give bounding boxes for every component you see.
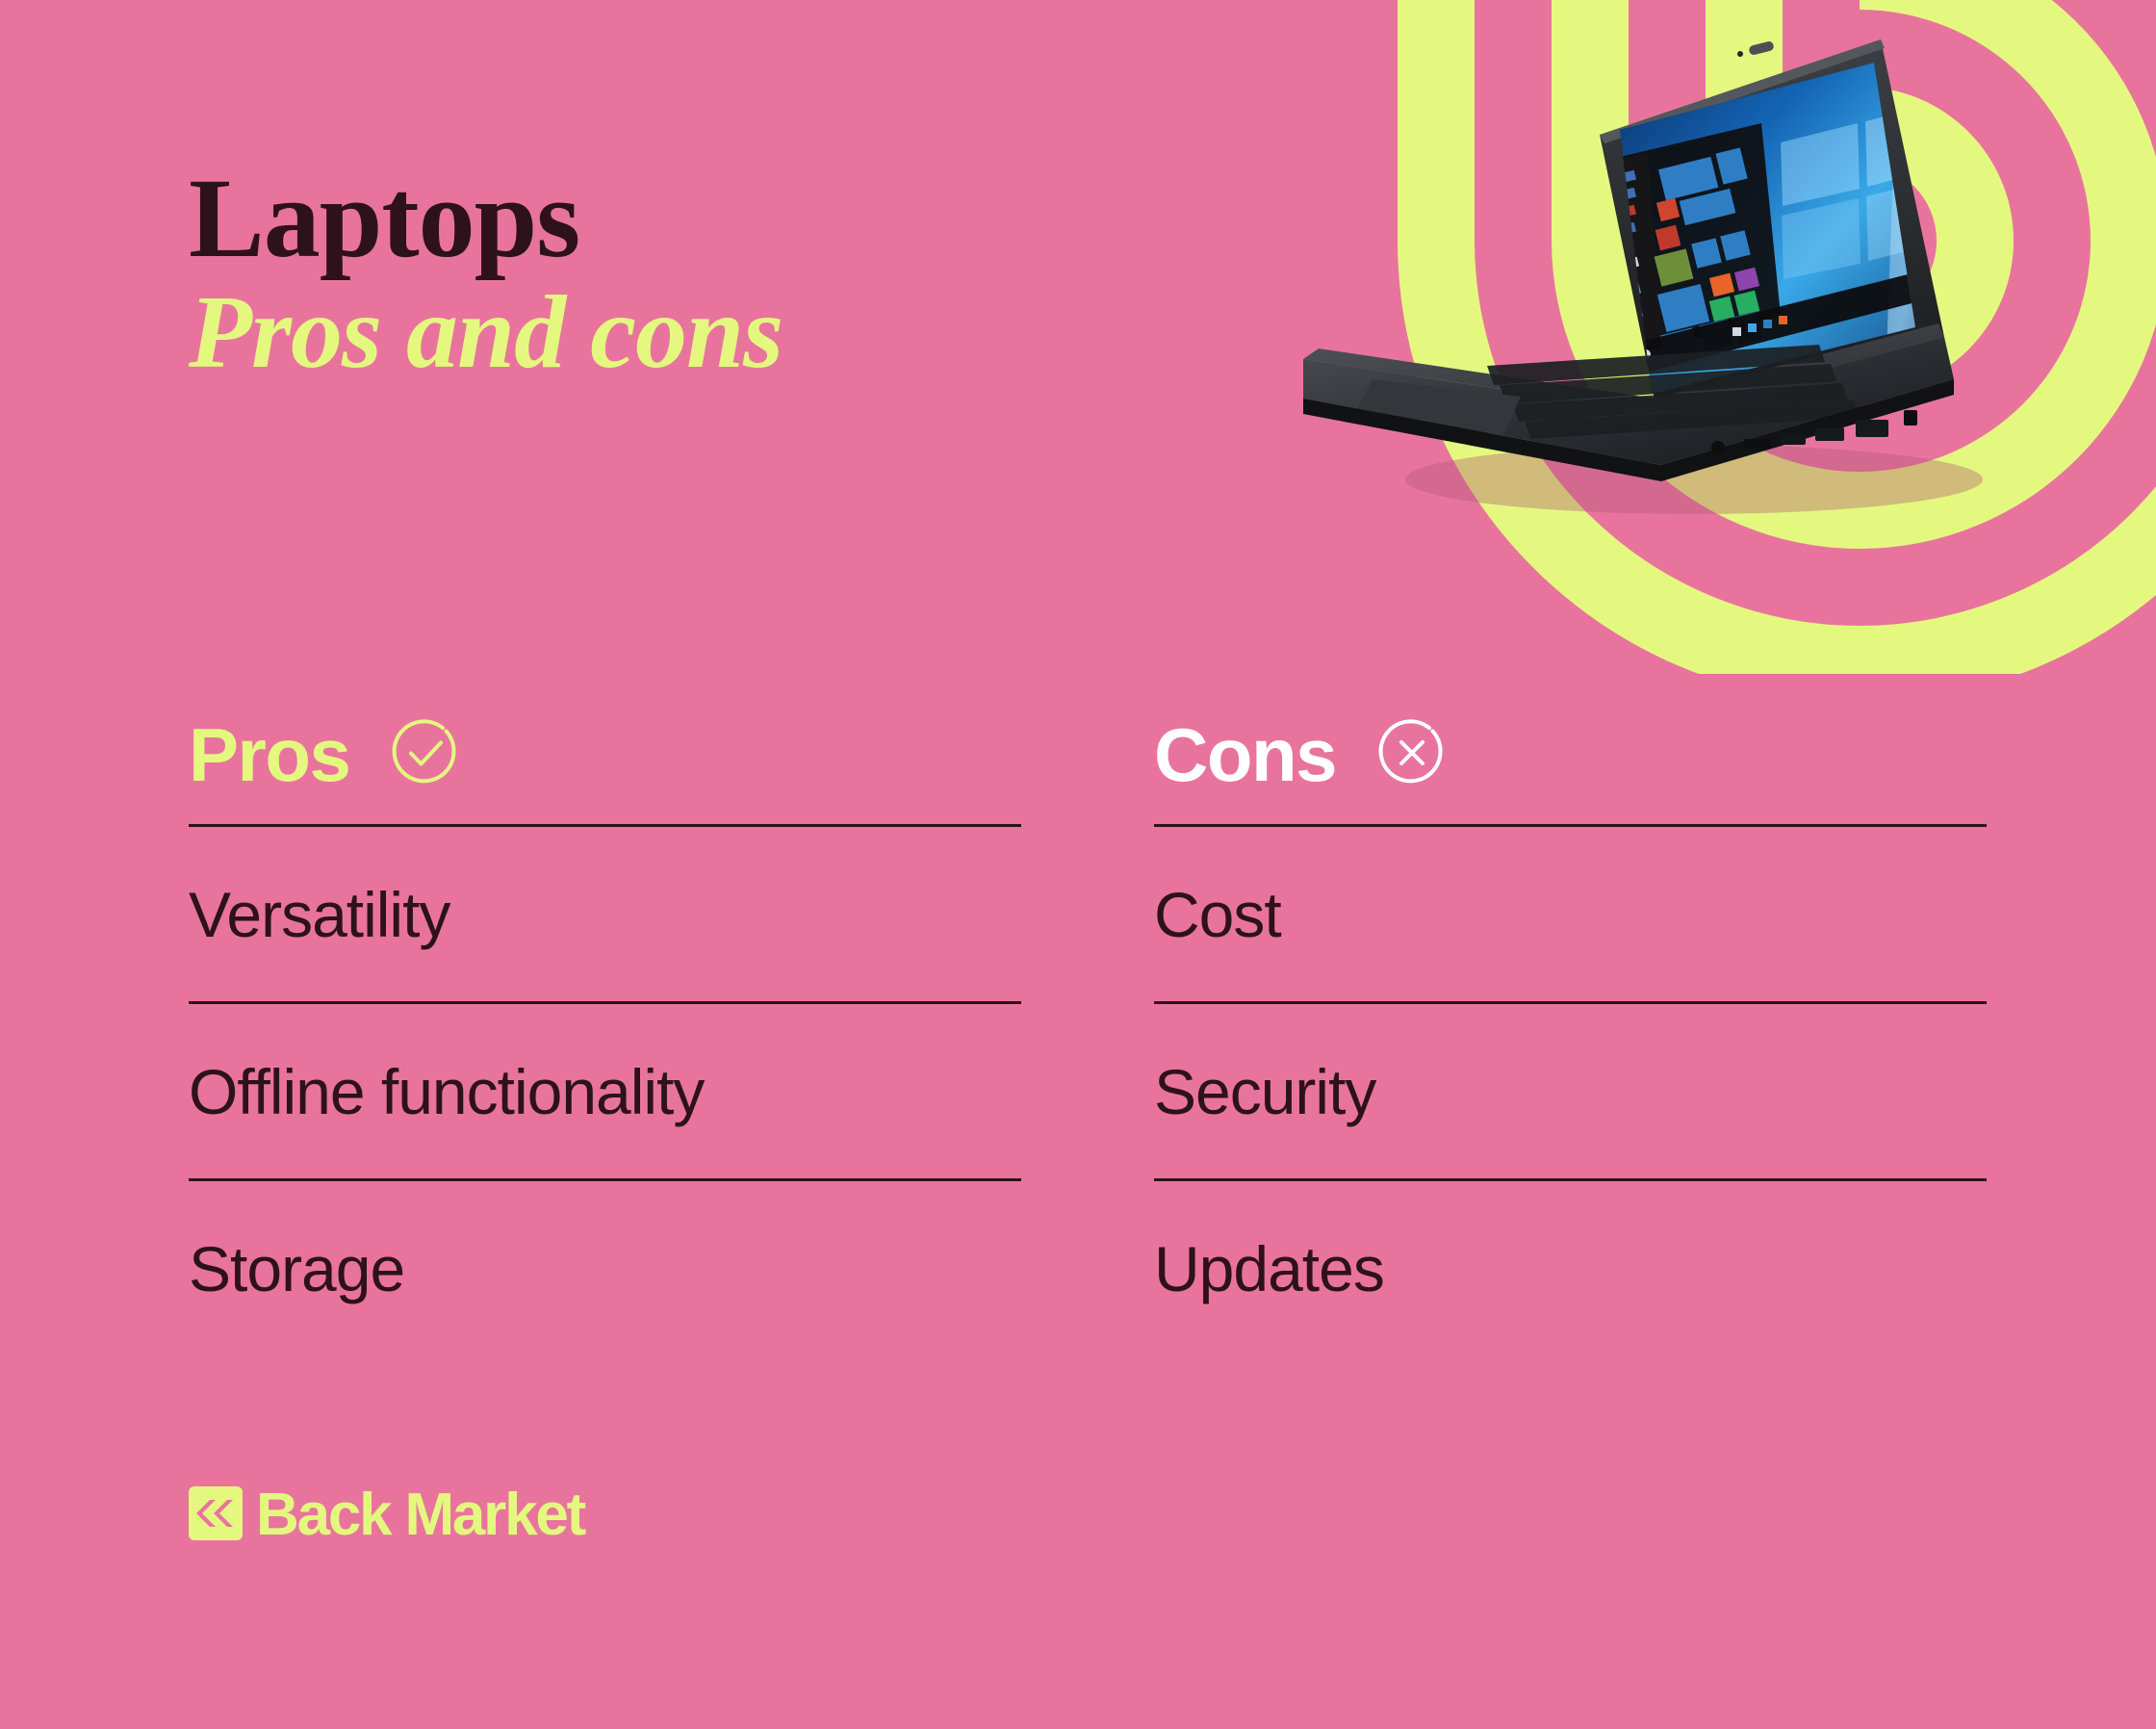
dell-laptop-photo: D⃠LL (1280, 27, 2156, 605)
concentric-rings-graphic (1244, 0, 2156, 674)
list-item: Offline functionality (189, 1001, 1021, 1178)
page-title: Laptops (189, 162, 1151, 275)
list-item: Versatility (189, 824, 1021, 1001)
check-circle-icon (388, 715, 463, 795)
poster-canvas: D⃠LL (0, 0, 2156, 1729)
back-market-logo: Back Market (189, 1485, 584, 1545)
title-block: Laptops Pros and cons (189, 162, 1151, 392)
list-item-label: Cost (1154, 883, 1281, 946)
list-item-label: Security (1154, 1060, 1375, 1123)
cons-list: Cost Security Updates (1154, 824, 1987, 1355)
list-item-label: Versatility (189, 883, 449, 946)
list-item-label: Updates (1154, 1237, 1384, 1301)
cons-header-label: Cons (1154, 717, 1336, 792)
pros-list: Versatility Offline functionality Storag… (189, 824, 1021, 1355)
list-item-label: Storage (189, 1237, 404, 1301)
pros-header: Pros (189, 710, 1021, 799)
double-chevron-left-icon (189, 1486, 243, 1545)
list-item: Storage (189, 1178, 1021, 1355)
page-subtitle: Pros and cons (189, 275, 1151, 392)
x-circle-icon (1374, 715, 1450, 795)
list-item: Security (1154, 1001, 1987, 1178)
pros-column: Pros Versatility Offline functionality S… (189, 710, 1021, 1355)
cons-header: Cons (1154, 710, 1987, 799)
cons-column: Cons Cost Security Updates (1154, 710, 1987, 1355)
pros-cons-columns: Pros Versatility Offline functionality S… (189, 710, 2006, 1355)
pros-header-label: Pros (189, 717, 349, 792)
list-item: Updates (1154, 1178, 1987, 1355)
list-item-label: Offline functionality (189, 1060, 704, 1123)
logo-wordmark: Back Market (256, 1485, 584, 1545)
list-item: Cost (1154, 824, 1987, 1001)
svg-text:D⃠LL: D⃠LL (1762, 368, 1821, 401)
